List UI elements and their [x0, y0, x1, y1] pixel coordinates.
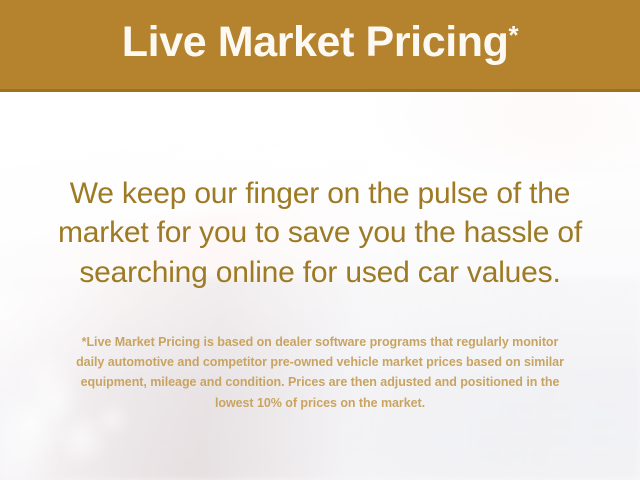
disclaimer-line-1: *Live Market Pricing is based on dealer … — [76, 332, 564, 352]
disclaimer-line-2: daily automotive and competitor pre-owne… — [76, 352, 564, 372]
live-market-pricing-promo-card: Live Market Pricing* We keep our finger … — [0, 0, 640, 480]
headline-line-3: searching online for used car values. — [58, 253, 582, 292]
page-title: Live Market Pricing* — [122, 21, 518, 68]
page-title-asterisk: * — [509, 22, 519, 48]
headline-line-1: We keep our finger on the pulse of the — [58, 174, 582, 213]
disclaimer-fine-print: *Live Market Pricing is based on dealer … — [60, 332, 580, 413]
headline-message: We keep our finger on the pulse of the m… — [36, 174, 604, 292]
header-banner: Live Market Pricing* — [0, 0, 640, 92]
page-title-text: Live Market Pricing — [122, 21, 509, 64]
content-area: We keep our finger on the pulse of the m… — [0, 92, 640, 480]
disclaimer-line-3: equipment, mileage and condition. Prices… — [76, 372, 564, 392]
disclaimer-line-4: lowest 10% of prices on the market. — [76, 393, 564, 413]
headline-line-2: market for you to save you the hassle of — [58, 213, 582, 252]
